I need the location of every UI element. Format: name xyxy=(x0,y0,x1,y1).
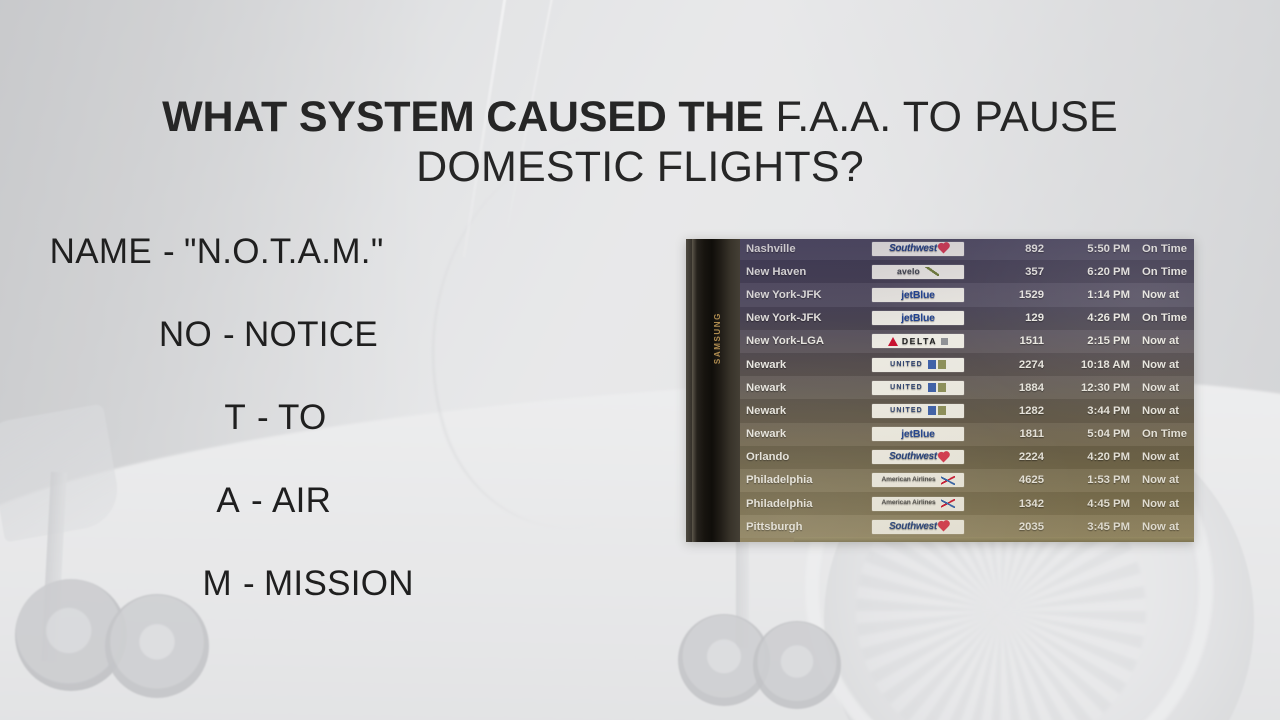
american-logo: American Airlines xyxy=(872,473,964,487)
airline-name: jetBlue xyxy=(901,429,935,440)
table-row: NewarkUNITED12823:44 PMNow at xyxy=(740,399,1194,422)
flight-time: 12:30 PM xyxy=(1052,382,1138,394)
flight-destination: Newark xyxy=(746,382,864,394)
airline-name: UNITED xyxy=(890,384,923,391)
acronym-key: M xyxy=(34,564,232,604)
united-globe-icon xyxy=(928,406,946,415)
united-globe-icon xyxy=(928,383,946,392)
flight-number: 1511 xyxy=(972,335,1052,347)
flight-status: Now at xyxy=(1138,405,1194,417)
table-row: OrlandoSouthwest22244:20 PMNow at xyxy=(740,446,1194,469)
flight-number: 2274 xyxy=(972,359,1052,371)
flight-status: Now at xyxy=(1138,521,1194,533)
avelo-logo: avelo xyxy=(872,265,964,279)
flight-status: On Time xyxy=(1138,428,1194,440)
table-row: PhiladelphiaAmerican Airlines13424:45 PM… xyxy=(740,492,1194,515)
flight-number: 892 xyxy=(972,243,1052,255)
united-logo: UNITED xyxy=(872,358,964,372)
table-row: NewarkUNITED188412:30 PMNow at xyxy=(740,376,1194,399)
list-item: M - MISSION xyxy=(34,564,464,604)
flight-number: 1529 xyxy=(972,289,1052,301)
jetblue-logo: jetBlue xyxy=(872,311,964,325)
airline-logo-cell: UNITED xyxy=(864,404,972,418)
airline-logo-cell: UNITED xyxy=(864,381,972,395)
acronym-value: TO xyxy=(278,398,327,438)
list-item: T - TO xyxy=(34,398,464,438)
airline-logo-cell: Southwest xyxy=(864,520,972,534)
acronym-dash: - xyxy=(152,232,184,272)
list-item: NO - NOTICE xyxy=(34,315,464,355)
flight-time: 4:26 PM xyxy=(1052,312,1138,324)
flight-time: 10:18 AM xyxy=(1052,359,1138,371)
flight-number: 1342 xyxy=(972,498,1052,510)
table-row: PhiladelphiaAmerican Airlines46251:53 PM… xyxy=(740,469,1194,492)
airline-logo-cell: American Airlines xyxy=(864,473,972,487)
delta-triangle-icon xyxy=(888,337,898,346)
flight-destination: Newark xyxy=(746,428,864,440)
flight-number: 357 xyxy=(972,266,1052,278)
acronym-key: NAME xyxy=(34,232,152,272)
airline-name: jetBlue xyxy=(901,313,935,324)
jetblue-logo: jetBlue xyxy=(872,288,964,302)
board-screen: NashvilleSouthwest8925:50 PMOn TimeNew H… xyxy=(740,239,1194,542)
flight-destination: Philadelphia xyxy=(746,498,864,510)
flight-destination: Nashville xyxy=(746,243,864,255)
table-row: New York-JFKjetBlue1294:26 PMOn Time xyxy=(740,307,1194,330)
acronym-dash: - xyxy=(240,481,272,521)
table-row: New York-JFKjetBlue15291:14 PMNow at xyxy=(740,283,1194,306)
flight-number: 2035 xyxy=(972,521,1052,533)
flight-time: 5:04 PM xyxy=(1052,428,1138,440)
flight-time: 5:50 PM xyxy=(1052,243,1138,255)
flight-time: 3:45 PM xyxy=(1052,521,1138,533)
united-globe-icon xyxy=(928,360,946,369)
flight-number: 1811 xyxy=(972,428,1052,440)
airline-logo-cell: jetBlue xyxy=(864,427,972,441)
heart-icon xyxy=(938,452,948,462)
flight-status: Now at xyxy=(1138,451,1194,463)
table-row: NewarkjetBlue18115:04 PMOn Time xyxy=(740,423,1194,446)
airline-logo-cell: jetBlue xyxy=(864,311,972,325)
american-eagle-icon xyxy=(941,499,955,508)
flight-status: On Time xyxy=(1138,243,1194,255)
airline-logo-cell: Southwest xyxy=(864,450,972,464)
airline-name: Southwest xyxy=(889,452,937,462)
table-row: New Havenavelo3576:20 PMOn Time xyxy=(740,260,1194,283)
flight-time: 4:45 PM xyxy=(1052,498,1138,510)
acronym-key: T xyxy=(34,398,246,438)
flight-number: 2224 xyxy=(972,451,1052,463)
flight-time: 6:20 PM xyxy=(1052,266,1138,278)
acronym-dash: - xyxy=(246,398,278,438)
flight-time: 1:14 PM xyxy=(1052,289,1138,301)
delta-logo: DELTA xyxy=(872,334,964,348)
page-title: WHAT SYSTEM CAUSED THE F.A.A. TO PAUSE D… xyxy=(0,93,1280,193)
table-row: New York-LGADELTA15112:15 PMNow at xyxy=(740,330,1194,353)
acronym-key: NO xyxy=(34,315,212,355)
american-logo: American Airlines xyxy=(872,497,964,511)
board-photo-frame: SAMSUNG NashvilleSouthwest8925:50 PMOn T… xyxy=(686,239,1194,542)
flight-destination: Newark xyxy=(746,359,864,371)
table-row: NewarkUNITED227410:18 AMNow at xyxy=(740,353,1194,376)
airline-name: jetBlue xyxy=(901,290,935,301)
acronym-value: "N.O.T.A.M." xyxy=(184,232,384,272)
flight-status: On Time xyxy=(1138,266,1194,278)
southwest-logo: Southwest xyxy=(872,520,964,534)
avelo-swoosh-icon xyxy=(925,267,939,276)
flight-departure-board-photo: SAMSUNG NashvilleSouthwest8925:50 PMOn T… xyxy=(686,239,1194,542)
airline-name: avelo xyxy=(897,267,920,276)
airline-logo-cell: American Airlines xyxy=(864,497,972,511)
airline-name: UNITED xyxy=(890,361,923,368)
flight-destination: New York-JFK xyxy=(746,289,864,301)
flight-destination: New Haven xyxy=(746,266,864,278)
flight-status: Now at xyxy=(1138,474,1194,486)
southwest-logo: Southwest xyxy=(872,450,964,464)
acronym-value: AIR xyxy=(272,481,331,521)
airline-logo-cell: DELTA xyxy=(864,334,972,348)
list-item: NAME - "N.O.T.A.M." xyxy=(34,232,464,272)
airline-logo-cell: UNITED xyxy=(864,358,972,372)
flight-status: Now at xyxy=(1138,289,1194,301)
acronym-value: MISSION xyxy=(264,564,414,604)
southwest-logo: Southwest xyxy=(872,242,964,256)
united-logo: UNITED xyxy=(872,381,964,395)
table-row: PittsburghSouthwest20353:45 PMNow at xyxy=(740,515,1194,538)
monitor-bezel: SAMSUNG xyxy=(686,239,740,542)
airline-logo-cell: jetBlue xyxy=(864,288,972,302)
flight-rows-container: NashvilleSouthwest8925:50 PMOn TimeNew H… xyxy=(740,239,1194,538)
delta-endcap-icon xyxy=(941,338,948,345)
bezel-sheen xyxy=(692,239,697,542)
flight-status: Now at xyxy=(1138,359,1194,371)
headline-bold-part: WHAT SYSTEM CAUSED THE xyxy=(162,93,775,141)
flight-status: Now at xyxy=(1138,498,1194,510)
acronym-dash: - xyxy=(212,315,244,355)
table-row: NashvilleSouthwest8925:50 PMOn Time xyxy=(740,239,1194,260)
acronym-key: A xyxy=(34,481,240,521)
acronym-dash: - xyxy=(232,564,264,604)
flight-destination: Newark xyxy=(746,405,864,417)
news-graphic-slide: WHAT SYSTEM CAUSED THE F.A.A. TO PAUSE D… xyxy=(0,0,1280,720)
flight-number: 1282 xyxy=(972,405,1052,417)
airline-name: Southwest xyxy=(889,244,937,254)
heart-icon xyxy=(938,522,948,532)
jetblue-logo: jetBlue xyxy=(872,427,964,441)
list-item: A - AIR xyxy=(34,481,464,521)
airline-name: UNITED xyxy=(890,407,923,414)
united-logo: UNITED xyxy=(872,404,964,418)
flight-status: Now at xyxy=(1138,335,1194,347)
flight-destination: Orlando xyxy=(746,451,864,463)
heart-icon xyxy=(938,244,948,254)
american-eagle-icon xyxy=(941,476,955,485)
flight-destination: Philadelphia xyxy=(746,474,864,486)
acronym-value: NOTICE xyxy=(244,315,378,355)
airline-name: DELTA xyxy=(902,337,937,346)
notam-acronym-list: NAME - "N.O.T.A.M." NO - NOTICE T - TO A… xyxy=(34,232,464,647)
flight-destination: New York-JFK xyxy=(746,312,864,324)
flight-destination: New York-LGA xyxy=(746,335,864,347)
flight-number: 129 xyxy=(972,312,1052,324)
airline-logo-cell: Southwest xyxy=(864,242,972,256)
flight-status: Now at xyxy=(1138,382,1194,394)
flight-time: 2:15 PM xyxy=(1052,335,1138,347)
airline-name: American Airlines xyxy=(881,477,935,484)
airline-name: Southwest xyxy=(889,522,937,532)
flight-number: 1884 xyxy=(972,382,1052,394)
flight-number: 4625 xyxy=(972,474,1052,486)
flight-time: 4:20 PM xyxy=(1052,451,1138,463)
flight-status: On Time xyxy=(1138,312,1194,324)
flight-time: 3:44 PM xyxy=(1052,405,1138,417)
board-bottom-edge xyxy=(794,537,1194,542)
samsung-logo: SAMSUNG xyxy=(713,312,722,364)
flight-time: 1:53 PM xyxy=(1052,474,1138,486)
airline-name: American Airlines xyxy=(881,500,935,507)
airline-logo-cell: avelo xyxy=(864,265,972,279)
flight-destination: Pittsburgh xyxy=(746,521,864,533)
